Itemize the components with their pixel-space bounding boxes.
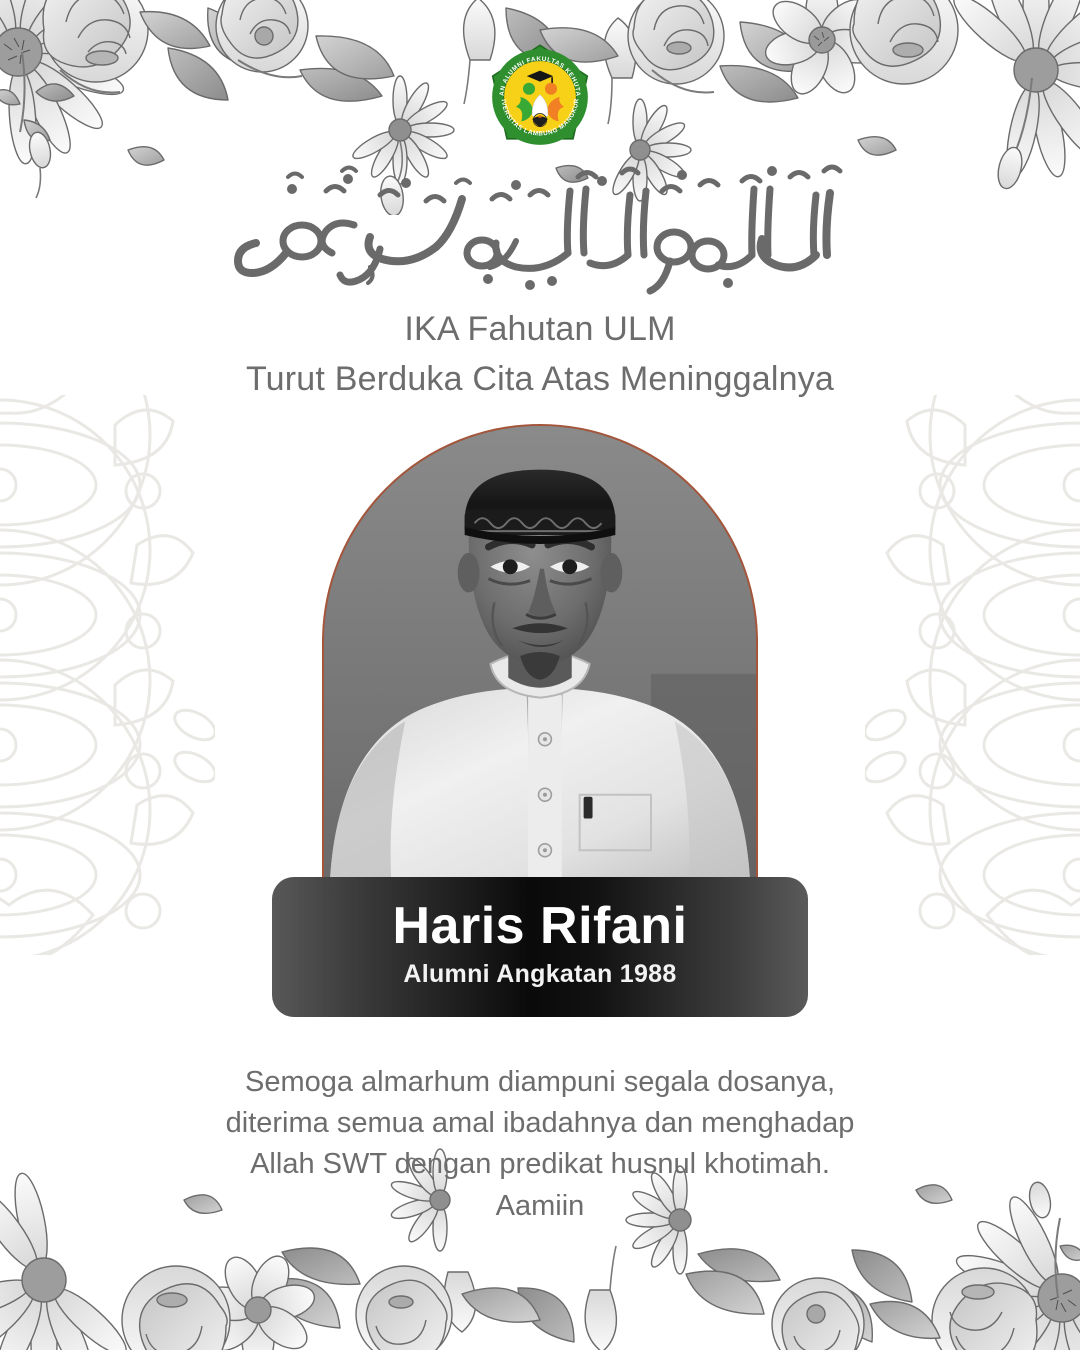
organization-name: IKA Fahutan ULM: [0, 308, 1080, 352]
alumni-batch: Alumni Angkatan 1988: [403, 960, 676, 989]
deceased-photo: [324, 426, 756, 882]
portrait-block: [322, 424, 758, 884]
prayer-line-1: Semoga almarhum diampuni segala dosanya,: [150, 1062, 930, 1103]
headings-block: IKA Fahutan ULM Turut Berduka Cita Atas …: [0, 308, 1080, 401]
condolence-line: Turut Berduka Cita Atas Meninggalnya: [0, 358, 1080, 402]
portrait-frame: [322, 424, 758, 884]
mandala-right: [865, 395, 1080, 960]
deceased-name: Haris Rifani: [393, 899, 688, 954]
name-plate: Haris Rifani Alumni Angkatan 1988: [272, 877, 808, 1017]
condolence-poster: IKATAN ALUMNI FAKULTAS KEHUTANAN UNIVERS…: [0, 0, 1080, 1350]
prayer-line-2: diterima semua amal ibadahnya dan mengha…: [150, 1103, 930, 1144]
prayer-text: Semoga almarhum diampuni segala dosanya,…: [0, 1062, 1080, 1227]
mandala-left: [0, 395, 215, 960]
ika-fahutan-ulm-logo: IKATAN ALUMNI FAKULTAS KEHUTANAN UNIVERS…: [0, 42, 1080, 152]
arabic-calligraphy: [0, 155, 1080, 300]
prayer-line-3: Allah SWT dengan predikat husnul khotima…: [150, 1144, 930, 1185]
prayer-line-4: Aamiin: [150, 1186, 930, 1227]
